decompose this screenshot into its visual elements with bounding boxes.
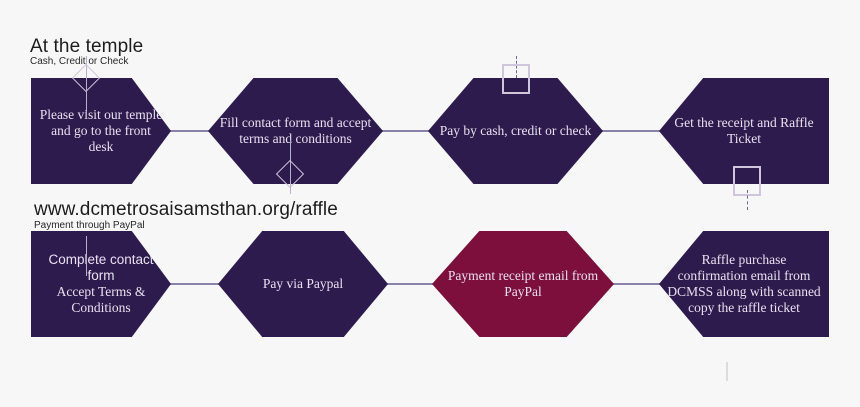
node-pay-via-paypal-label: Pay via Paypal [255,276,351,292]
node-raffle-confirmation-email-label: Raffle purchase confirmation email from … [659,252,829,316]
stem-inside-node-complete-contact-form [86,236,88,276]
node-complete-contact-form-line1: Complete contact form [39,252,163,284]
node-payment-receipt-email-label: Payment receipt email from PayPal [432,268,614,300]
dashed-stem-below-node-get-receipt [747,190,748,210]
node-complete-contact-form[interactable]: Complete contact form Accept Terms & Con… [31,231,171,337]
process-flow-diagram: At the temple Cash, Credit or Check Plea… [0,0,860,407]
node-fill-contact-form-label: Fill contact form and accept terms and c… [208,115,383,147]
page-edge-tick [726,362,728,381]
section-heading-raffle-url: www.dcmetrosaisamsthan.org/raffle [34,199,338,221]
node-payment-receipt-email[interactable]: Payment receipt email from PayPal [432,231,614,337]
node-pay-via-paypal[interactable]: Pay via Paypal [218,231,388,337]
square-event-marker-top-node3 [502,64,530,94]
node-complete-contact-form-label: Complete contact form Accept Terms & Con… [31,252,171,316]
node-pay-cash-credit-check-label: Pay by cash, credit or check [432,123,599,139]
node-get-receipt-raffle-ticket-label: Get the receipt and Raffle Ticket [659,115,829,147]
stem-tail-node-fill-contact-form [290,184,292,194]
section-subheading-payment-through-paypal: Payment through PayPal [34,220,145,231]
stem-inside-node-visit-temple [86,78,88,116]
node-raffle-confirmation-email[interactable]: Raffle purchase confirmation email from … [659,231,829,337]
section-heading-at-the-temple: At the temple [30,36,143,58]
node-visit-temple-label: Please visit our temple and go to the fr… [31,107,171,155]
node-visit-temple[interactable]: Please visit our temple and go to the fr… [31,78,171,184]
flow-row-at-the-temple: Please visit our temple and go to the fr… [0,78,860,184]
section-subheading-cash-credit-check: Cash, Credit or Check [30,56,128,67]
flow-row-online-paypal: Complete contact form Accept Terms & Con… [0,231,860,337]
node-complete-contact-form-line2: Accept Terms & Conditions [39,284,163,316]
